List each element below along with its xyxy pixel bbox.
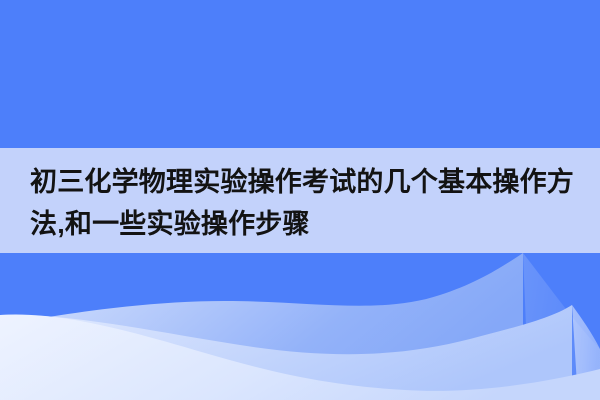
top-color-block [0,0,600,148]
banner-image: 初三化学物理实验操作考试的几个基本操作方 法,和一些实验操作步骤 [0,0,600,400]
page-title: 初三化学物理实验操作考试的几个基本操作方 法,和一些实验操作步骤 [30,161,582,245]
wave-svg [0,253,600,400]
wave-graphic [0,253,600,400]
